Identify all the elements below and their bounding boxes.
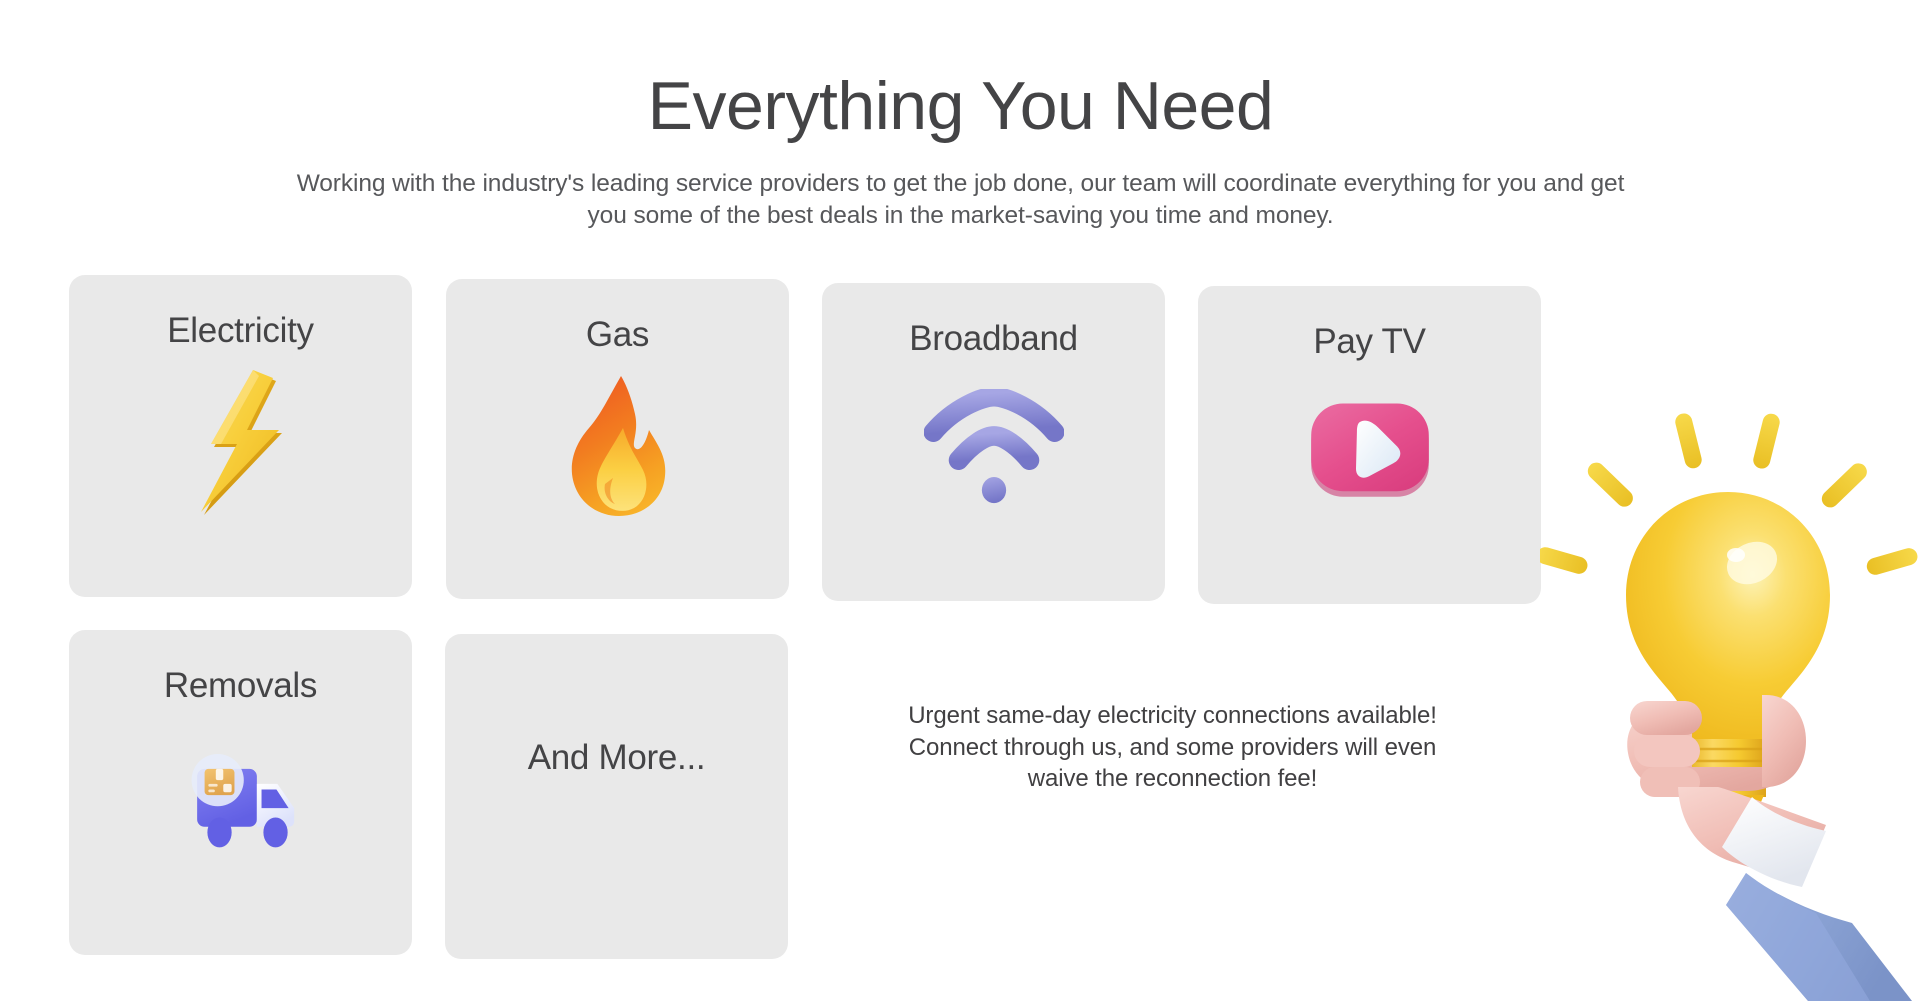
page-header: Everything You Need Working with the ind…	[0, 0, 1921, 231]
hand-holding-lightbulb-illustration	[1540, 395, 1921, 1001]
page-root: Everything You Need Working with the ind…	[0, 0, 1921, 1001]
service-card-gas[interactable]: Gas	[446, 279, 789, 599]
flame-icon	[548, 370, 688, 520]
service-card-label: And More...	[528, 738, 706, 777]
service-card-label: Removals	[164, 666, 317, 705]
service-card-label: Broadband	[909, 319, 1078, 358]
services-row-2: Removals	[69, 630, 788, 959]
wifi-icon	[924, 374, 1064, 524]
service-card-broadband[interactable]: Broadband	[822, 283, 1165, 601]
play-button-icon	[1300, 377, 1440, 527]
service-card-label: Electricity	[167, 311, 313, 350]
promo-text: Urgent same-day electricity connections …	[900, 700, 1445, 795]
service-card-label: Pay TV	[1313, 322, 1425, 361]
services-row-1: Electricity	[69, 275, 1541, 604]
delivery-truck-icon	[171, 721, 311, 871]
service-card-electricity[interactable]: Electricity	[69, 275, 412, 597]
page-title: Everything You Need	[0, 0, 1921, 140]
service-card-label: Gas	[586, 315, 649, 354]
service-card-removals[interactable]: Removals	[69, 630, 412, 955]
service-card-paytv[interactable]: Pay TV	[1198, 286, 1541, 604]
lightning-bolt-icon	[171, 366, 311, 516]
service-card-and-more[interactable]: And More...	[445, 634, 788, 959]
page-subtitle: Working with the industry's leading serv…	[291, 140, 1631, 231]
